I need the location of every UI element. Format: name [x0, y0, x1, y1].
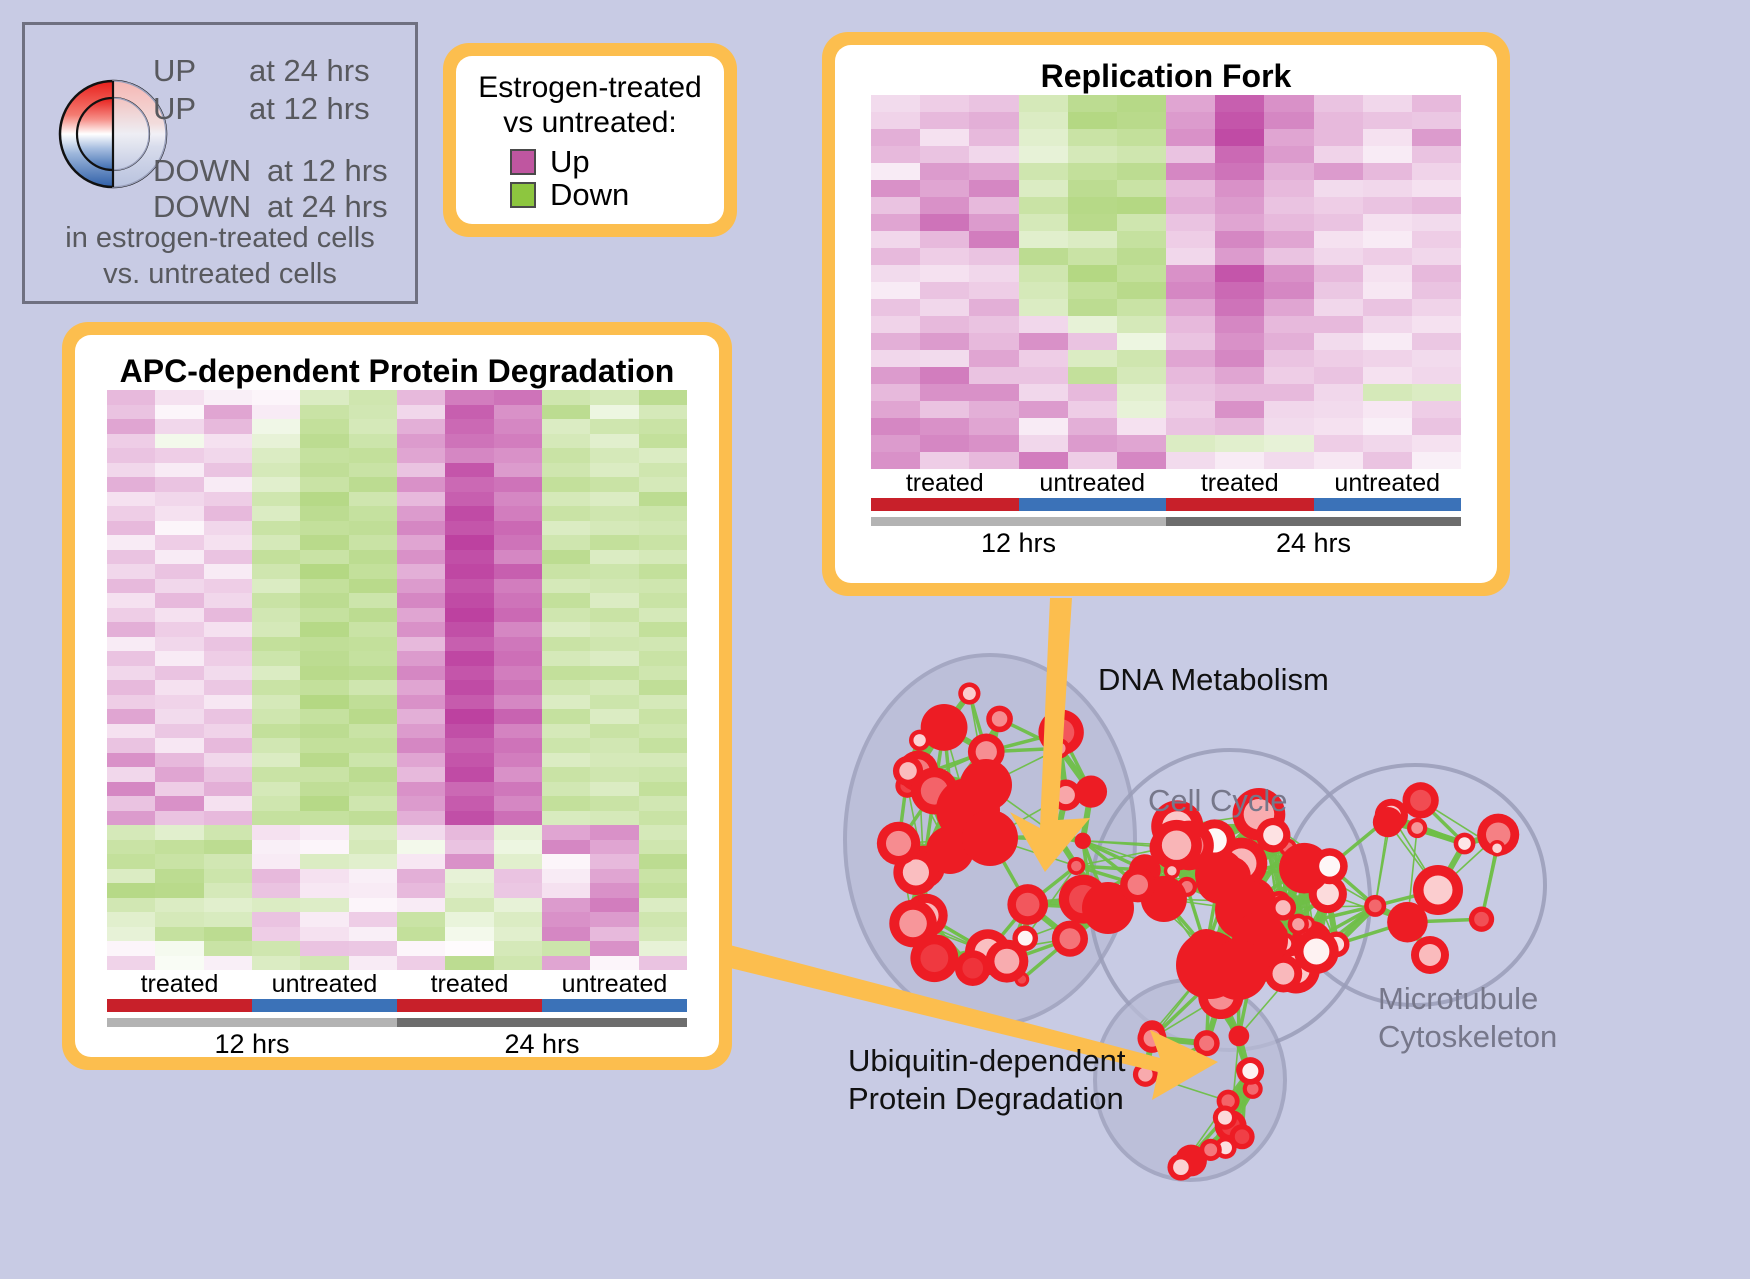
- network-node[interactable]: [1164, 863, 1180, 879]
- heatmap-cell: [1068, 248, 1117, 265]
- heatmap-cell: [445, 811, 493, 826]
- heatmap-cell: [349, 434, 397, 449]
- network-node[interactable]: [1407, 818, 1427, 838]
- heatmap-cell: [1412, 316, 1461, 333]
- heatmap-cell: [494, 434, 542, 449]
- heatmap-cell: [1314, 316, 1363, 333]
- network-node[interactable]: [1075, 833, 1091, 849]
- heatmap-cell: [1264, 180, 1313, 197]
- heatmap-cell: [1215, 163, 1264, 180]
- heatmap-cell: [1166, 282, 1215, 299]
- key-legend-rows: Up Down: [456, 146, 724, 210]
- heatmap-cell: [397, 695, 445, 710]
- heatmap-cell: [397, 724, 445, 739]
- network-node[interactable]: [1200, 1139, 1222, 1161]
- network-node[interactable]: [1151, 820, 1202, 871]
- heatmap-cell: [639, 448, 687, 463]
- heatmap-cell: [349, 637, 397, 652]
- wheel-row-1-time: at 12 hrs: [249, 91, 370, 127]
- heatmap-cell: [252, 593, 300, 608]
- heatmap-cell: [1166, 350, 1215, 367]
- heatmap-cell: [349, 695, 397, 710]
- heatmap-cell: [494, 811, 542, 826]
- heatmap-cell: [349, 666, 397, 681]
- heatmap-cell: [155, 854, 203, 869]
- heatmap-cell: [639, 825, 687, 840]
- heatmap-cell: [920, 452, 969, 469]
- heatmap-cell: [639, 405, 687, 420]
- heatmap-cell: [1019, 435, 1068, 452]
- heatmap-cell: [590, 811, 638, 826]
- network-node[interactable]: [960, 759, 1012, 811]
- heatmap-cell: [1068, 435, 1117, 452]
- heatmap-cell: [252, 521, 300, 536]
- heatmap-cell: [300, 434, 348, 449]
- heatmap-cell: [494, 564, 542, 579]
- heatmap-cell: [1412, 265, 1461, 282]
- heatmap-cell: [204, 869, 252, 884]
- heatmap-cell: [204, 521, 252, 536]
- heatmap-cell: [920, 401, 969, 418]
- apc-degradation-heatmap: [107, 390, 687, 970]
- heatmap-cell: [590, 782, 638, 797]
- heatmap-cell: [252, 448, 300, 463]
- network-node[interactable]: [986, 706, 1013, 733]
- heatmap-cell: [639, 738, 687, 753]
- network-node[interactable]: [1120, 867, 1155, 902]
- heatmap-cell: [300, 492, 348, 507]
- heatmap-cell: [969, 333, 1018, 350]
- network-node[interactable]: [1364, 895, 1386, 917]
- heatmap-cell: [300, 666, 348, 681]
- network-node[interactable]: [1294, 929, 1339, 974]
- heatmap-cell: [1215, 401, 1264, 418]
- heatmap-cell: [639, 898, 687, 913]
- heatmap-cell: [204, 767, 252, 782]
- heatmap-cell: [397, 956, 445, 971]
- heatmap-cell: [155, 550, 203, 565]
- heatmap-cell: [590, 840, 638, 855]
- heatmap-cell: [494, 782, 542, 797]
- heatmap-cell: [639, 811, 687, 826]
- heatmap-cell: [542, 912, 590, 927]
- heatmap-cell: [542, 390, 590, 405]
- heatmap-cell: [107, 463, 155, 478]
- network-node[interactable]: [1075, 776, 1107, 808]
- heatmap-cell: [445, 564, 493, 579]
- heatmap-cell: [969, 146, 1018, 163]
- heatmap-cell: [155, 434, 203, 449]
- heatmap-cell: [252, 898, 300, 913]
- heatmap-cell: [300, 811, 348, 826]
- heatmap-cell: [871, 299, 920, 316]
- heatmap-cell: [300, 753, 348, 768]
- network-node[interactable]: [1230, 1124, 1255, 1149]
- heatmap-cell: [397, 419, 445, 434]
- heatmap-cell: [204, 753, 252, 768]
- network-node[interactable]: [1237, 1057, 1265, 1085]
- network-node[interactable]: [1454, 833, 1476, 855]
- heatmap-cell: [590, 680, 638, 695]
- heatmap-cell: [204, 390, 252, 405]
- heatmap-cell: [1117, 401, 1166, 418]
- network-node[interactable]: [1312, 848, 1348, 884]
- heatmap-cell: [1314, 401, 1363, 418]
- heatmap-cell: [397, 666, 445, 681]
- heatmap-cell: [1264, 129, 1313, 146]
- heatmap-cell: [542, 869, 590, 884]
- heatmap-cell: [155, 651, 203, 666]
- heatmap-cell: [349, 883, 397, 898]
- heatmap-cell: [542, 550, 590, 565]
- heatmap-cell: [590, 651, 638, 666]
- heatmap-cell: [1314, 282, 1363, 299]
- heatmap-cell: [397, 927, 445, 942]
- network-node[interactable]: [1012, 925, 1038, 951]
- network-node[interactable]: [1413, 865, 1463, 915]
- network-node[interactable]: [1067, 857, 1085, 875]
- heatmap-cell: [1166, 435, 1215, 452]
- heatmap-cell: [155, 535, 203, 550]
- heatmap-cell: [494, 535, 542, 550]
- heatmap-cell: [542, 941, 590, 956]
- heatmap-cell: [397, 753, 445, 768]
- network-node[interactable]: [1133, 1062, 1158, 1087]
- heatmap-cell: [1117, 316, 1166, 333]
- heatmap-cell: [397, 405, 445, 420]
- heatmap-cell: [494, 506, 542, 521]
- heatmap-cell: [871, 248, 920, 265]
- heatmap-cell: [155, 448, 203, 463]
- heatmap-cell: [397, 811, 445, 826]
- heatmap-cell: [590, 854, 638, 869]
- network-node[interactable]: [1208, 940, 1268, 1000]
- heatmap-cell: [349, 680, 397, 695]
- heatmap-cell: [397, 637, 445, 652]
- heatmap-cell: [300, 912, 348, 927]
- heatmap-cell: [871, 418, 920, 435]
- heatmap-cell: [590, 709, 638, 724]
- heatmap-cell: [107, 637, 155, 652]
- heatmap-cell: [590, 724, 638, 739]
- heatmap-cell: [920, 112, 969, 129]
- heatmap-cell: [494, 796, 542, 811]
- heatmap-cell: [107, 492, 155, 507]
- heatmap-cell: [252, 767, 300, 782]
- heatmap-cell: [920, 316, 969, 333]
- heatmap-cell: [1363, 418, 1412, 435]
- network-node[interactable]: [1256, 818, 1291, 853]
- heatmap-cell: [204, 680, 252, 695]
- heatmap-cell: [494, 390, 542, 405]
- network-node[interactable]: [910, 934, 958, 982]
- heatmap-cell: [590, 608, 638, 623]
- cluster-label-dna-metabolism: DNA Metabolism: [1098, 662, 1329, 698]
- heatmap-cell: [590, 622, 638, 637]
- heatmap-cell: [349, 622, 397, 637]
- heatmap-cell: [920, 265, 969, 282]
- heatmap-cell: [871, 265, 920, 282]
- heatmap-cell: [590, 492, 638, 507]
- heatmap-cell: [300, 637, 348, 652]
- heatmap-cell: [1363, 197, 1412, 214]
- network-node[interactable]: [1194, 1030, 1220, 1056]
- heatmap-cell: [1412, 214, 1461, 231]
- heatmap-cell: [871, 435, 920, 452]
- heatmap-cell: [445, 637, 493, 652]
- heatmap-cell: [590, 579, 638, 594]
- network-node[interactable]: [909, 730, 930, 751]
- network-node[interactable]: [1043, 822, 1070, 849]
- heatmap-cell: [1215, 350, 1264, 367]
- heatmap-cell: [204, 637, 252, 652]
- heatmap-cell: [349, 564, 397, 579]
- network-node[interactable]: [877, 822, 920, 865]
- heatmap-cell: [349, 448, 397, 463]
- heatmap-cell: [349, 608, 397, 623]
- heatmap-cell: [1412, 112, 1461, 129]
- heatmap-cell: [1117, 384, 1166, 401]
- heatmap-cell: [920, 333, 969, 350]
- heatmap-cell: [920, 367, 969, 384]
- heatmap-cell: [1264, 367, 1313, 384]
- heatmap-cell: [445, 579, 493, 594]
- heatmap-cell: [1264, 401, 1313, 418]
- heatmap-cell: [252, 405, 300, 420]
- heatmap-cell: [300, 680, 348, 695]
- heatmap-cell: [920, 418, 969, 435]
- heatmap-cell: [494, 492, 542, 507]
- heatmap-cell: [639, 390, 687, 405]
- heatmap-cell: [204, 898, 252, 913]
- heatmap-cell: [204, 883, 252, 898]
- heatmap-cell: [590, 463, 638, 478]
- heatmap-cell: [107, 825, 155, 840]
- heatmap-cell: [252, 564, 300, 579]
- heatmap-cell: [300, 593, 348, 608]
- heatmap-cell: [107, 956, 155, 971]
- heatmap-cell: [1363, 129, 1412, 146]
- heatmap-cell: [1314, 452, 1363, 469]
- heatmap-cell: [590, 448, 638, 463]
- network-node[interactable]: [1373, 807, 1403, 837]
- heatmap-cell: [920, 435, 969, 452]
- heatmap-cell: [1412, 248, 1461, 265]
- heatmap-cell: [542, 811, 590, 826]
- heatmap-cell: [494, 941, 542, 956]
- heatmap-cell: [107, 912, 155, 927]
- heatmap-cell: [1019, 129, 1068, 146]
- network-node[interactable]: [1167, 1154, 1194, 1181]
- heatmap-cell: [920, 384, 969, 401]
- network-node[interactable]: [1007, 884, 1048, 925]
- network-node[interactable]: [1489, 840, 1506, 857]
- network-node[interactable]: [1137, 1024, 1166, 1053]
- heatmap-cell: [542, 564, 590, 579]
- sample-label: untreated: [1314, 469, 1462, 498]
- heatmap-cell: [300, 390, 348, 405]
- heatmap-cell: [639, 782, 687, 797]
- heatmap-cell: [590, 637, 638, 652]
- heatmap-cell: [445, 956, 493, 971]
- heatmap-cell: [349, 854, 397, 869]
- heatmap-cell: [1264, 282, 1313, 299]
- heatmap-cell: [300, 477, 348, 492]
- heatmap-cell: [639, 767, 687, 782]
- heatmap-cell: [1068, 214, 1117, 231]
- heatmap-cell: [204, 579, 252, 594]
- heatmap-cell: [204, 738, 252, 753]
- network-node[interactable]: [958, 682, 980, 704]
- heatmap-cell: [1215, 452, 1264, 469]
- heatmap-cell: [1019, 265, 1068, 282]
- heatmap-cell: [590, 753, 638, 768]
- heatmap-cell: [252, 550, 300, 565]
- heatmap-cell: [445, 506, 493, 521]
- heatmap-cell: [542, 434, 590, 449]
- heatmap-cell: [252, 825, 300, 840]
- heatmap-cell: [1019, 384, 1068, 401]
- heatmap-cell: [590, 956, 638, 971]
- heatmap-cell: [494, 840, 542, 855]
- heatmap-cell: [204, 956, 252, 971]
- heatmap-cell: [542, 753, 590, 768]
- cluster-label-microtubule-cytoskeleton: Microtubule Cytoskeleton: [1378, 980, 1557, 1057]
- heatmap-cell: [590, 550, 638, 565]
- heatmap-cell: [252, 608, 300, 623]
- heatmap-cell: [542, 854, 590, 869]
- heatmap-cell: [397, 796, 445, 811]
- heatmap-cell: [300, 738, 348, 753]
- sample-label: treated: [1166, 469, 1314, 498]
- heatmap-cell: [252, 666, 300, 681]
- heatmap-cell: [252, 695, 300, 710]
- heatmap-cell: [542, 492, 590, 507]
- heatmap-cell: [1166, 214, 1215, 231]
- heatmap-cell: [397, 390, 445, 405]
- heatmap-cell: [871, 350, 920, 367]
- network-node[interactable]: [1196, 856, 1244, 904]
- heatmap-cell: [1117, 129, 1166, 146]
- heatmap-cell: [1215, 129, 1264, 146]
- replication-fork-time-labels: 12 hrs24 hrs: [871, 528, 1461, 559]
- heatmap-cell: [494, 637, 542, 652]
- heatmap-cell: [300, 883, 348, 898]
- heatmap-cell: [445, 550, 493, 565]
- heatmap-cell: [155, 956, 203, 971]
- heatmap-cell: [155, 927, 203, 942]
- heatmap-cell: [252, 854, 300, 869]
- heatmap-cell: [920, 214, 969, 231]
- network-node[interactable]: [1411, 936, 1449, 974]
- heatmap-cell: [204, 796, 252, 811]
- heatmap-cell: [445, 898, 493, 913]
- heatmap-cell: [349, 709, 397, 724]
- heatmap-cell: [494, 767, 542, 782]
- heatmap-cell: [397, 869, 445, 884]
- heatmap-cell: [871, 180, 920, 197]
- network-node[interactable]: [1050, 738, 1070, 758]
- heatmap-cell: [1117, 95, 1166, 112]
- heatmap-cell: [204, 622, 252, 637]
- network-node[interactable]: [1229, 1026, 1250, 1047]
- heatmap-cell: [590, 941, 638, 956]
- heatmap-cell: [1314, 418, 1363, 435]
- heatmap-cell: [1068, 452, 1117, 469]
- heatmap-cell: [1068, 418, 1117, 435]
- heatmap-cell: [349, 796, 397, 811]
- network-node[interactable]: [962, 810, 1018, 866]
- time-color-segment: [397, 1018, 687, 1027]
- treatment-color-segment: [871, 498, 1019, 511]
- heatmap-cell: [590, 506, 638, 521]
- heatmap-cell: [542, 637, 590, 652]
- heatmap-cell: [1314, 146, 1363, 163]
- apc-degradation-panel: APC-dependent Protein Degradation treate…: [62, 322, 732, 1070]
- heatmap-cell: [300, 840, 348, 855]
- heatmap-cell: [204, 709, 252, 724]
- heatmap-cell: [349, 405, 397, 420]
- heatmap-cell: [920, 146, 969, 163]
- network-node[interactable]: [955, 950, 991, 986]
- heatmap-cell: [204, 724, 252, 739]
- heatmap-cell: [397, 941, 445, 956]
- heatmap-cell: [155, 622, 203, 637]
- heatmap-cell: [494, 883, 542, 898]
- heatmap-cell: [871, 384, 920, 401]
- heatmap-cell: [1166, 418, 1215, 435]
- heatmap-cell: [349, 927, 397, 942]
- heatmap-cell: [1068, 384, 1117, 401]
- heatmap-cell: [445, 796, 493, 811]
- heatmap-cell: [397, 912, 445, 927]
- heatmap-cell: [204, 782, 252, 797]
- heatmap-cell: [1363, 180, 1412, 197]
- heatmap-cell: [1117, 452, 1166, 469]
- heatmap-cell: [252, 869, 300, 884]
- heatmap-cell: [445, 448, 493, 463]
- network-node[interactable]: [1052, 921, 1088, 957]
- heatmap-cell: [349, 521, 397, 536]
- heatmap-cell: [445, 883, 493, 898]
- network-node[interactable]: [1402, 782, 1438, 818]
- heatmap-cell: [1363, 214, 1412, 231]
- heatmap-cell: [1068, 282, 1117, 299]
- heatmap-cell: [639, 695, 687, 710]
- heatmap-cell: [300, 854, 348, 869]
- heatmap-cell: [1363, 146, 1412, 163]
- heatmap-cell: [155, 506, 203, 521]
- heatmap-cell: [542, 898, 590, 913]
- heatmap-cell: [969, 197, 1018, 214]
- heatmap-cell: [542, 477, 590, 492]
- heatmap-cell: [252, 883, 300, 898]
- heatmap-cell: [1314, 350, 1363, 367]
- heatmap-cell: [155, 477, 203, 492]
- heatmap-cell: [349, 825, 397, 840]
- heatmap-cell: [494, 898, 542, 913]
- heatmap-cell: [542, 506, 590, 521]
- heatmap-cell: [1264, 350, 1313, 367]
- heatmap-cell: [969, 452, 1018, 469]
- key-label-up: Up: [550, 146, 590, 177]
- heatmap-cell: [1314, 265, 1363, 282]
- heatmap-cell: [107, 419, 155, 434]
- heatmap-cell: [349, 579, 397, 594]
- network-node[interactable]: [1213, 1105, 1237, 1129]
- network-node[interactable]: [1469, 907, 1494, 932]
- heatmap-cell: [639, 840, 687, 855]
